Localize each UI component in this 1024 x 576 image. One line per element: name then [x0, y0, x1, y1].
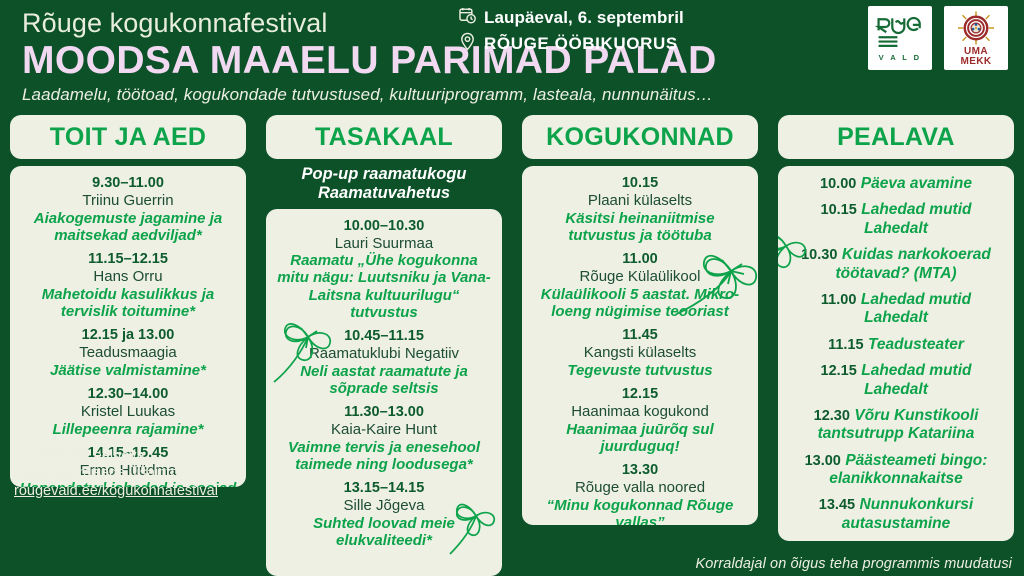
stage-row: 13.45 Nunnukonkursi autasustamine: [787, 496, 1005, 533]
item-presenter: Kaia-Kaire Hunt: [275, 421, 493, 439]
poster-header: Rõuge kogukonnafestival MOODSA MAAELU PA…: [0, 0, 1024, 115]
item-time: 13.30: [531, 462, 749, 479]
item-time: 9.30–11.00: [19, 175, 237, 192]
rouge-vald-logo: V A L D: [868, 6, 932, 70]
program-item: 12.15 Haanimaa kogukond Haanimaa juūrõq …: [531, 386, 749, 455]
program-item: 9.30–11.00 Triinu Guerrin Aiakogemuste j…: [19, 175, 237, 244]
column-subheading-line1: Pop-up raamatukogu: [301, 165, 466, 183]
stage-title: Teadusteater: [868, 336, 964, 353]
poster-subtitle: Laadamelu, töötoad, kogukondade tutvustu…: [22, 85, 1024, 105]
column-heading-text: TOIT JA AED: [50, 123, 207, 152]
program-column-toit-ja-aed: TOIT JA AED 9.30–11.00 Triinu Guerrin Ai…: [0, 115, 256, 576]
column-subheading-tasakaal: Pop-up raamatukogu Raamatuvahetus: [266, 165, 502, 203]
stage-title: Nunnukonkursi autasustamine: [842, 496, 973, 531]
item-presenter: Sille Jõgeva: [275, 497, 493, 515]
stage-time: 10.00: [820, 176, 856, 192]
stage-row: 10.00 Päeva avamine: [787, 175, 1005, 193]
program-item: 11.15–12.15 Hans Orru Mahetoidu kasulikk…: [19, 251, 237, 320]
item-time: 10.00–10.30: [275, 218, 493, 235]
item-title: Tegevuste tutvustus: [531, 362, 749, 379]
stage-title: Päästeameti bingo: elanikkonnakaitse: [829, 452, 987, 487]
stage-title: Lahedad mutid Lahedalt: [861, 201, 971, 236]
program-item: 11.45 Kangsti külaselts Tegevuste tutvus…: [531, 327, 749, 379]
item-presenter: Plaani külaselts: [531, 192, 749, 210]
stage-title: Lahedad mutid Lahedalt: [861, 291, 971, 326]
stage-time: 11.15: [828, 337, 864, 353]
stage-row: 10.30 Kuidas narkokoerad töötavad? (MTA): [787, 246, 1005, 283]
stage-title: Kuidas narkokoerad töötavad? (MTA): [835, 246, 990, 281]
festival-poster: Rõuge kogukonnafestival MOODSA MAAELU PA…: [0, 0, 1024, 576]
stage-time: 13.45: [819, 497, 855, 513]
stage-time: 11.00: [821, 292, 857, 308]
stage-row: 10.15 Lahedad mutid Lahedalt: [787, 201, 1005, 238]
stage-row: 12.15 Lahedad mutid Lahedalt: [787, 362, 1005, 399]
item-time: 13.15–14.15: [275, 480, 493, 497]
item-title: Külaülikooli 5 aastat. Mikro-loeng nügim…: [531, 286, 749, 320]
item-time: 10.15: [531, 175, 749, 192]
rouge-vald-wordmark: V A L D: [879, 53, 922, 62]
item-presenter: Raamatuklubi Negatiiv: [275, 345, 493, 363]
item-presenter: Rõuge Külaülikool: [531, 268, 749, 286]
stage-row: 12.30 Võru Kunstikooli tantsutrupp Katar…: [787, 407, 1005, 444]
registration-note-line1: * osalemine eelneva: [14, 448, 246, 465]
program-item: 13.30 Rõuge valla noored “Minu kogukonna…: [531, 462, 749, 525]
column-heading-text: KOGUKONNAD: [546, 123, 734, 152]
program-column-pealava: PEALAVA 10.00 Päeva avamine 10.15 Laheda…: [768, 115, 1024, 576]
item-title: “Minu kogukonnad Rõuge vallas”: [531, 497, 749, 525]
registration-link[interactable]: rougevald.ee/kogukonnafestival: [14, 483, 218, 499]
event-place-row: RÕUGE ÖÖBIKUORUS: [458, 32, 758, 56]
stage-time: 10.30: [801, 247, 837, 263]
calendar-clock-icon: [458, 6, 477, 30]
map-pin-icon: [458, 32, 477, 56]
item-time: 12.15: [531, 386, 749, 403]
event-date: Laupäeval, 6. septembril: [484, 8, 684, 28]
program-card-kogukonnad: 10.15 Plaani külaselts Käsitsi heinaniit…: [522, 166, 758, 525]
item-presenter: Teadusmaagia: [19, 344, 237, 362]
column-header-toit-ja-aed: TOIT JA AED: [10, 115, 246, 159]
stage-row: 13.00 Päästeameti bingo: elanikkonnakait…: [787, 452, 1005, 489]
stage-time: 12.15: [821, 363, 857, 379]
item-title: Haanimaa juūrõq sul juurduguq!: [531, 421, 749, 455]
registration-note-line2: registreerimisega, lisainfo: [14, 465, 246, 482]
program-item: 13.15–14.15 Sille Jõgeva Suhted loovad m…: [275, 480, 493, 549]
stage-title: Lahedad mutid Lahedalt: [861, 362, 971, 397]
item-time: 12.30–14.00: [19, 386, 237, 403]
stage-row: 11.00 Lahedad mutid Lahedalt: [787, 291, 1005, 328]
item-time: 11.15–12.15: [19, 251, 237, 268]
item-title: Aiakogemuste jagamine ja maitsekad aedvi…: [19, 210, 237, 244]
item-time: 10.45–11.15: [275, 328, 493, 345]
registration-note: * osalemine eelneva registreerimisega, l…: [0, 446, 256, 500]
event-place: RÕUGE ÖÖBIKUORUS: [484, 34, 678, 54]
column-header-pealava: PEALAVA: [778, 115, 1014, 159]
item-time: 12.15 ja 13.00: [19, 327, 237, 344]
item-presenter: Rõuge valla noored: [531, 479, 749, 497]
event-date-row: Laupäeval, 6. septembril: [458, 6, 758, 30]
column-header-kogukonnad: KOGUKONNAD: [522, 115, 758, 159]
program-card-toit-ja-aed: 9.30–11.00 Triinu Guerrin Aiakogemuste j…: [10, 166, 246, 487]
item-title: Käsitsi heinaniitmise tutvustus ja töötu…: [531, 210, 749, 244]
column-subheading-line2: Raamatuvahetus: [318, 184, 450, 202]
program-card-tasakaal: 10.00–10.30 Lauri Suurmaa Raamatu „Ühe k…: [266, 209, 502, 576]
item-title: Raamatu „Ühe kogukonna mitu nägu: Luutsn…: [275, 252, 493, 320]
item-presenter: Kangsti külaselts: [531, 344, 749, 362]
item-presenter: Triinu Guerrin: [19, 192, 237, 210]
item-presenter: Lauri Suurmaa: [275, 235, 493, 253]
item-time: 11.00: [531, 251, 749, 268]
program-item: 12.15 ja 13.00 Teadusmaagia Jäätise valm…: [19, 327, 237, 379]
item-time: 11.45: [531, 327, 749, 344]
program-columns: TOIT JA AED 9.30–11.00 Triinu Guerrin Ai…: [0, 115, 1024, 576]
stage-time: 13.00: [805, 453, 841, 469]
item-title: Vaimne tervis ja enesehool taimede ning …: [275, 439, 493, 473]
program-column-kogukonnad: KOGUKONNAD 10.15 Plaani külaselts Käsits…: [512, 115, 768, 576]
item-presenter: Hans Orru: [19, 268, 237, 286]
program-disclaimer: Korraldajal on õigus teha programmis muu…: [695, 556, 1012, 572]
program-item: 12.30–14.00 Kristel Luukas Lillepeenra r…: [19, 386, 237, 438]
program-item: 10.45–11.15 Raamatuklubi Negatiiv Neli a…: [275, 328, 493, 397]
stage-time: 12.30: [814, 408, 850, 424]
item-title: Jäätise valmistamine*: [19, 362, 237, 379]
program-item: 11.30–13.00 Kaia-Kaire Hunt Vaimne tervi…: [275, 404, 493, 473]
logo-group: V A L D UMA MEKK: [868, 6, 1008, 70]
item-title: Mahetoidu kasulikkus ja tervislik toitum…: [19, 286, 237, 320]
program-item: 11.00 Rõuge Külaülikool Külaülikooli 5 a…: [531, 251, 749, 320]
uma-mekk-logo: UMA MEKK: [944, 6, 1008, 70]
column-heading-text: TASAKAAL: [315, 123, 453, 152]
item-presenter: Kristel Luukas: [19, 403, 237, 421]
column-header-tasakaal: TASAKAAL: [266, 115, 502, 159]
item-time: 11.30–13.00: [275, 404, 493, 421]
item-title: Suhted loovad meie elukvaliteedi*: [275, 515, 493, 549]
program-card-pealava: 10.00 Päeva avamine 10.15 Lahedad mutid …: [778, 166, 1014, 541]
program-item: 10.00–10.30 Lauri Suurmaa Raamatu „Ühe k…: [275, 218, 493, 321]
item-presenter: Haanimaa kogukond: [531, 403, 749, 421]
item-title: Lillepeenra rajamine*: [19, 421, 237, 438]
item-title: Neli aastat raamatute ja sõprade seltsis: [275, 363, 493, 397]
uma-mekk-wordmark: UMA MEKK: [960, 47, 991, 67]
column-heading-text: PEALAVA: [837, 123, 955, 152]
program-item: 10.15 Plaani külaselts Käsitsi heinaniit…: [531, 175, 749, 244]
stage-time: 10.15: [821, 202, 857, 218]
stage-title: Päeva avamine: [861, 175, 972, 192]
uma-mekk-line2: MEKK: [960, 56, 991, 67]
stage-row: 11.15 Teadusteater: [787, 336, 1005, 354]
program-column-tasakaal: TASAKAAL Pop-up raamatukogu Raamatuvahet…: [256, 115, 512, 576]
event-meta: Laupäeval, 6. septembril RÕUGE ÖÖBIKUORU…: [458, 6, 758, 58]
